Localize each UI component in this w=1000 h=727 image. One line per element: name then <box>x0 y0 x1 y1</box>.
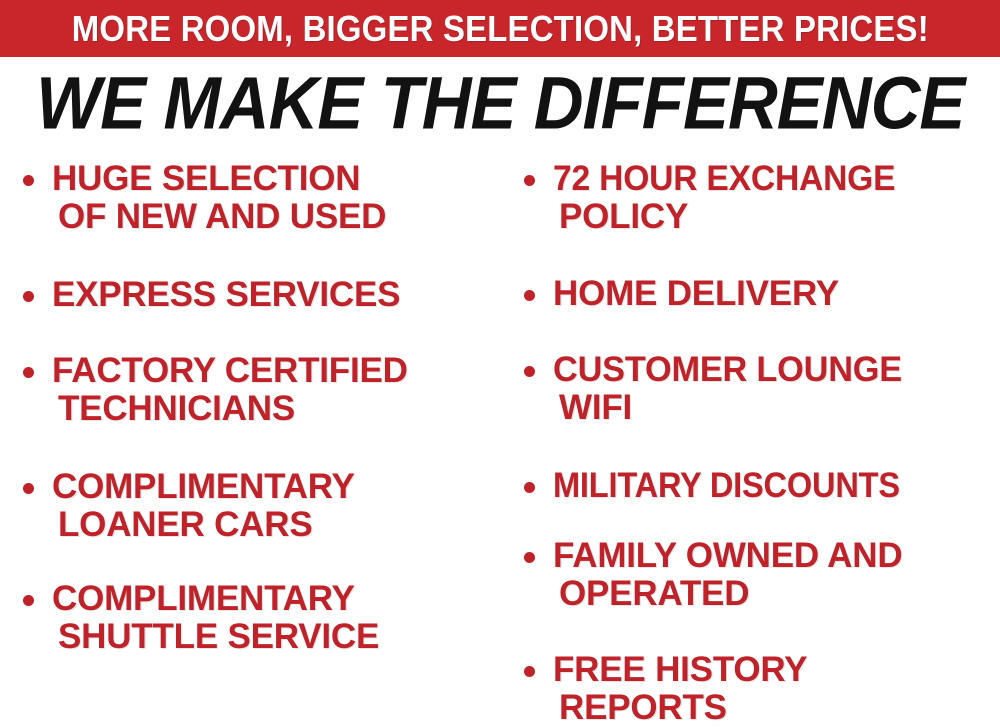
bullet-dot-icon <box>23 595 34 606</box>
bullet-dot-icon <box>23 175 34 186</box>
promo-banner-text: MORE ROOM, BIGGER SELECTION, BETTER PRIC… <box>71 11 928 47</box>
list-item-line-1: MILITARY DISCOUNTS <box>553 467 1000 505</box>
list-item-line-2: LOANER CARS <box>52 506 500 544</box>
list-item-line-1: FAMILY OWNED AND <box>553 537 1000 575</box>
list-item-line-2: SHUTTLE SERVICE <box>52 618 500 656</box>
headline-container: WE MAKE THE DIFFERENCE <box>0 64 1000 142</box>
bullet-dot-icon <box>23 291 34 302</box>
list-item: MILITARY DISCOUNTS <box>515 467 1000 505</box>
list-item: FACTORY CERTIFIED TECHNICIANS <box>14 352 500 428</box>
bullet-dot-icon <box>524 290 535 301</box>
benefits-column-right: 72 HOUR EXCHANGE POLICY HOME DELIVERY CU… <box>515 158 1000 694</box>
list-item-line-2: OF NEW AND USED <box>52 198 500 236</box>
list-item-line-2: WIFI <box>553 389 1000 427</box>
list-item-line-1: HOME DELIVERY <box>553 275 1000 313</box>
list-item-line-1: FREE HISTORY <box>553 651 1000 689</box>
list-item-line-1: EXPRESS SERVICES <box>52 276 500 314</box>
bullet-dot-icon <box>524 552 535 563</box>
list-item-line-1: HUGE SELECTION <box>52 160 500 198</box>
bullet-dot-icon <box>524 175 535 186</box>
promo-banner: MORE ROOM, BIGGER SELECTION, BETTER PRIC… <box>0 0 1000 57</box>
list-item: 72 HOUR EXCHANGE POLICY <box>515 160 1000 236</box>
bullet-dot-icon <box>23 483 34 494</box>
benefits-list-left: HUGE SELECTION OF NEW AND USED EXPRESS S… <box>14 160 500 656</box>
bullet-dot-icon <box>524 482 535 493</box>
page-title: WE MAKE THE DIFFERENCE <box>36 66 964 140</box>
bullet-dot-icon <box>524 366 535 377</box>
list-item-line-1: CUSTOMER LOUNGE <box>553 351 1000 389</box>
list-item: FREE HISTORY REPORTS <box>515 651 1000 727</box>
list-item-line-1: FACTORY CERTIFIED <box>52 352 500 390</box>
list-item: CUSTOMER LOUNGE WIFI <box>515 351 1000 427</box>
benefits-list-right: 72 HOUR EXCHANGE POLICY HOME DELIVERY CU… <box>515 160 1000 727</box>
bullet-dot-icon <box>23 367 34 378</box>
dealership-benefits-ad: MORE ROOM, BIGGER SELECTION, BETTER PRIC… <box>0 0 1000 694</box>
list-item-line-2: OPERATED <box>553 575 1000 613</box>
bullet-dot-icon <box>524 666 535 677</box>
benefits-column-left: HUGE SELECTION OF NEW AND USED EXPRESS S… <box>14 158 500 694</box>
list-item-line-2: REPORTS <box>553 689 1000 727</box>
list-item: FAMILY OWNED AND OPERATED <box>515 537 1000 613</box>
list-item: EXPRESS SERVICES <box>14 276 500 314</box>
benefits-columns: HUGE SELECTION OF NEW AND USED EXPRESS S… <box>0 158 1000 694</box>
list-item-line-1: COMPLIMENTARY <box>52 468 500 506</box>
list-item-line-1: COMPLIMENTARY <box>52 580 500 618</box>
list-item: COMPLIMENTARY LOANER CARS <box>14 468 500 544</box>
list-item: HOME DELIVERY <box>515 275 1000 313</box>
list-item: HUGE SELECTION OF NEW AND USED <box>14 160 500 236</box>
list-item: COMPLIMENTARY SHUTTLE SERVICE <box>14 580 500 656</box>
list-item-line-1: 72 HOUR EXCHANGE <box>553 160 1000 198</box>
list-item-line-2: POLICY <box>553 198 1000 236</box>
list-item-line-2: TECHNICIANS <box>52 390 500 428</box>
